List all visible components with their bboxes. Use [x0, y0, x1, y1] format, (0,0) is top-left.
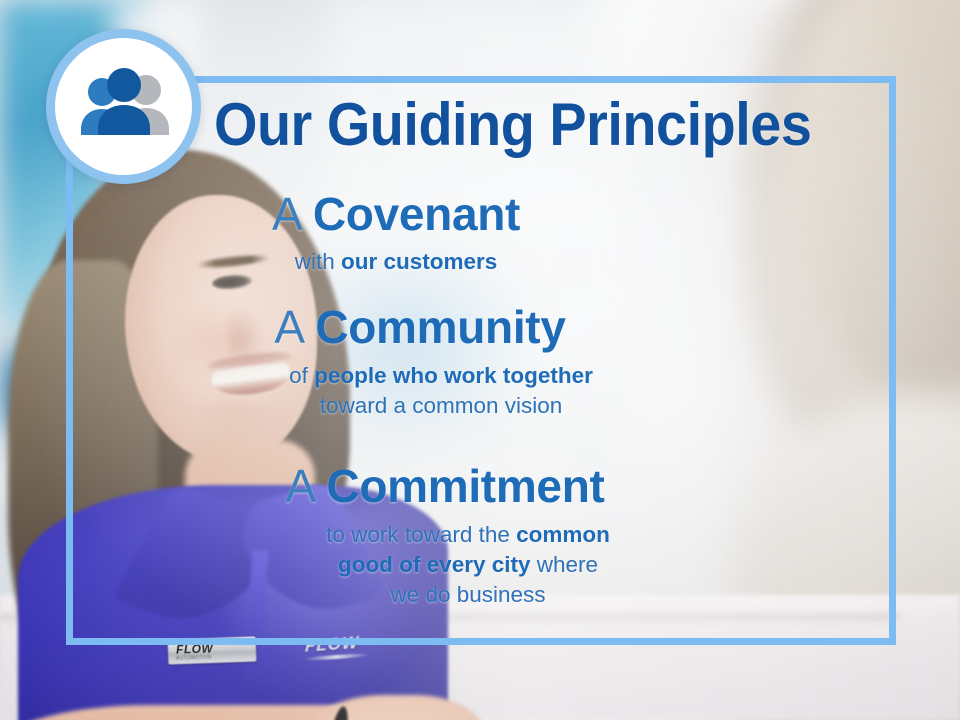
- body-emphasis: people who work together: [314, 363, 593, 388]
- principle-keyword: Community: [315, 301, 565, 353]
- principle-keyword: Covenant: [313, 188, 520, 240]
- body-emphasis: our customers: [341, 249, 497, 274]
- principle-keyword: Commitment: [326, 460, 604, 512]
- principle-commitment-title: A Commitment: [0, 462, 960, 510]
- principle-covenant-title: A Covenant: [0, 190, 960, 238]
- principle-community-body: of people who work together toward a com…: [0, 361, 960, 420]
- body-emphasis: common: [516, 522, 610, 547]
- body-line: with our customers: [295, 249, 498, 274]
- body-line: toward a common vision: [0, 391, 882, 421]
- principle-community-title: A Community: [0, 303, 960, 351]
- body-line: to work toward the common: [0, 520, 936, 550]
- principle-covenant: A Covenant with our customers: [0, 190, 960, 277]
- text-layer: Our Guiding Principles A Covenant with o…: [0, 0, 960, 720]
- principle-article: A: [272, 188, 300, 240]
- poster-canvas: FLOW AUTOMOTIVE FLOW: [0, 0, 960, 720]
- principle-article: A: [274, 301, 302, 353]
- page-title: Our Guiding Principles: [214, 94, 828, 155]
- principle-covenant-body: with our customers: [0, 247, 960, 277]
- body-emphasis: good of every city: [338, 552, 531, 577]
- principle-article: A: [285, 460, 313, 512]
- body-line: good of every city where: [0, 550, 936, 580]
- principle-commitment: A Commitment to work toward the common g…: [0, 462, 960, 609]
- principle-community: A Community of people who work together …: [0, 303, 960, 421]
- principle-commitment-body: to work toward the common good of every …: [0, 520, 960, 609]
- body-line: of people who work together: [0, 361, 882, 391]
- body-line: we do business: [0, 580, 936, 610]
